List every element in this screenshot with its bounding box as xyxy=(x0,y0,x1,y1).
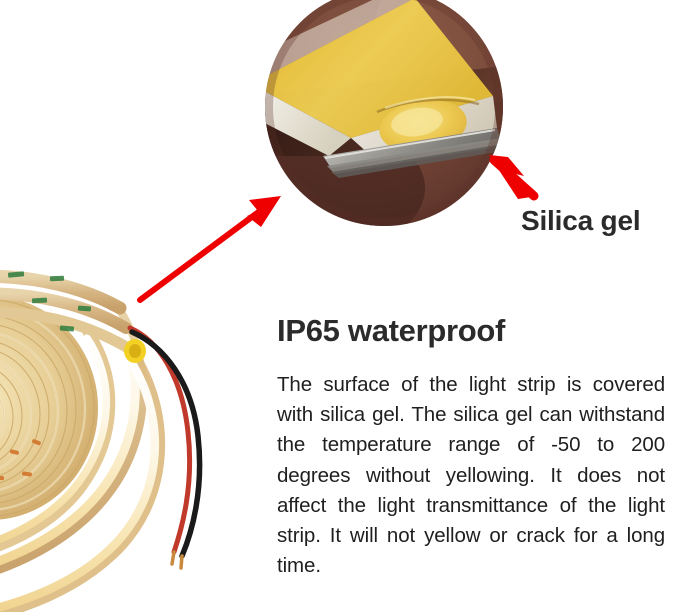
feature-description: The surface of the light strip is covere… xyxy=(277,370,665,581)
arrow-label-to-inset-icon xyxy=(489,155,534,199)
silica-gel-callout-label: Silica gel xyxy=(521,205,640,237)
coil-illustration xyxy=(0,236,212,612)
led-strip-coil-photo xyxy=(0,236,212,612)
feature-heading: IP65 waterproof xyxy=(277,313,505,349)
macro-inset-circle xyxy=(265,0,503,226)
wire-clip xyxy=(124,339,146,363)
macro-photo-illustration xyxy=(265,0,503,226)
feature-description-paragraph: The surface of the light strip is covere… xyxy=(277,370,665,581)
product-feature-image: Silica gel IP65 waterproof The surface o… xyxy=(0,0,679,612)
